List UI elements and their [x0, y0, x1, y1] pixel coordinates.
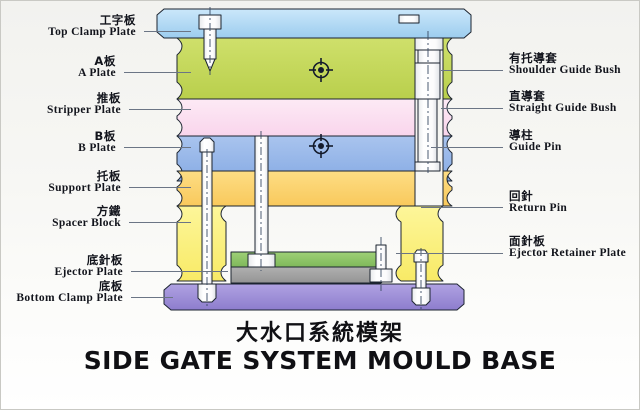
leader-line-bottom-clamp-plate — [131, 297, 173, 298]
label-spacer-block-en: Spacer Block — [52, 217, 121, 229]
label-stripper-plate: 推板Stripper Plate — [47, 92, 121, 117]
label-spacer-block: 方鐵Spacer Block — [52, 205, 121, 230]
part-stripper-plate — [177, 99, 415, 136]
diagram-page: 工字板Top Clamp PlateA板A Plate推板Stripper Pl… — [0, 0, 640, 410]
leader-line-ejector-retainer-plate — [396, 253, 503, 254]
label-a-plate-en: A Plate — [78, 67, 116, 79]
label-straight-guide-bush-en: Straight Guide Bush — [509, 102, 617, 114]
label-ejector-plate: 底針板Ejector Plate — [54, 254, 123, 279]
label-bottom-clamp-plate-cn: 底板 — [16, 280, 123, 292]
part-support-plate-right — [443, 171, 452, 206]
label-straight-guide-bush: 直導套Straight Guide Bush — [509, 90, 617, 115]
label-ejector-retainer-plate-en: Ejector Retainer Plate — [509, 247, 626, 259]
leader-line-top-clamp-plate — [144, 31, 191, 32]
label-b-plate-cn: B板 — [78, 130, 116, 142]
label-support-plate-en: Support Plate — [48, 182, 121, 194]
label-a-plate: A板A Plate — [78, 55, 116, 80]
leader-line-spacer-block — [129, 222, 191, 223]
leader-line-b-plate — [124, 147, 191, 148]
label-support-plate-cn: 托板 — [48, 170, 121, 182]
title-chinese: 大水口系統模架 — [1, 315, 639, 347]
label-guide-pin-en: Guide Pin — [509, 141, 562, 153]
label-ejector-plate-en: Ejector Plate — [54, 266, 123, 278]
label-bottom-clamp-plate: 底板Bottom Clamp Plate — [16, 280, 123, 305]
label-stripper-plate-en: Stripper Plate — [47, 104, 121, 116]
label-support-plate: 托板Support Plate — [48, 170, 121, 195]
part-support-pillar — [255, 136, 268, 254]
label-top-clamp-plate: 工字板Top Clamp Plate — [48, 14, 136, 39]
label-spacer-block-cn: 方鐵 — [52, 205, 121, 217]
label-shoulder-guide-bush-cn: 有托導套 — [509, 52, 621, 64]
leader-line-return-pin — [421, 207, 503, 208]
label-ejector-plate-cn: 底針板 — [54, 254, 123, 266]
label-guide-pin-cn: 導柱 — [509, 129, 562, 141]
label-b-plate: B板B Plate — [78, 130, 116, 155]
label-straight-guide-bush-cn: 直導套 — [509, 90, 617, 102]
part-straight-guide-bush — [415, 63, 440, 99]
part-top-right-bolt — [399, 15, 419, 23]
title-english: SIDE GATE SYSTEM MOULD BASE — [1, 346, 639, 375]
part-ejector-plate — [231, 267, 386, 283]
part-shoulder-guide-bush-barrel — [418, 50, 440, 63]
leader-line-stripper-plate — [129, 109, 191, 110]
leader-line-straight-guide-bush — [441, 108, 503, 109]
label-ejector-retainer-plate: 面針板Ejector Retainer Plate — [509, 235, 626, 260]
leader-line-ejector-plate — [131, 271, 228, 272]
label-return-pin-cn: 回針 — [509, 190, 567, 202]
leader-line-guide-pin — [431, 147, 503, 148]
label-guide-pin: 導柱Guide Pin — [509, 129, 562, 154]
label-top-clamp-plate-en: Top Clamp Plate — [48, 26, 136, 38]
label-a-plate-cn: A板 — [78, 55, 116, 67]
label-shoulder-guide-bush-en: Shoulder Guide Bush — [509, 64, 621, 76]
part-support-plate — [177, 171, 415, 206]
label-stripper-plate-cn: 推板 — [47, 92, 121, 104]
label-return-pin-en: Return Pin — [509, 202, 567, 214]
part-guide-pin-shoulder — [415, 162, 440, 171]
leader-line-support-plate — [129, 187, 191, 188]
part-a-plate-right — [443, 38, 452, 99]
part-stripper-plate-right — [443, 99, 452, 136]
label-return-pin: 回針Return Pin — [509, 190, 567, 215]
label-bottom-clamp-plate-en: Bottom Clamp Plate — [16, 292, 123, 304]
label-shoulder-guide-bush: 有托導套Shoulder Guide Bush — [509, 52, 621, 77]
label-ejector-retainer-plate-cn: 面針板 — [509, 235, 626, 247]
part-shoulder-guide-bush — [415, 38, 443, 50]
leader-line-shoulder-guide-bush — [441, 70, 503, 71]
part-guide-pin — [418, 99, 437, 162]
label-top-clamp-plate-cn: 工字板 — [48, 14, 136, 26]
label-b-plate-en: B Plate — [78, 142, 116, 154]
part-support-pillar-foot — [248, 254, 275, 267]
leader-line-a-plate — [124, 72, 191, 73]
